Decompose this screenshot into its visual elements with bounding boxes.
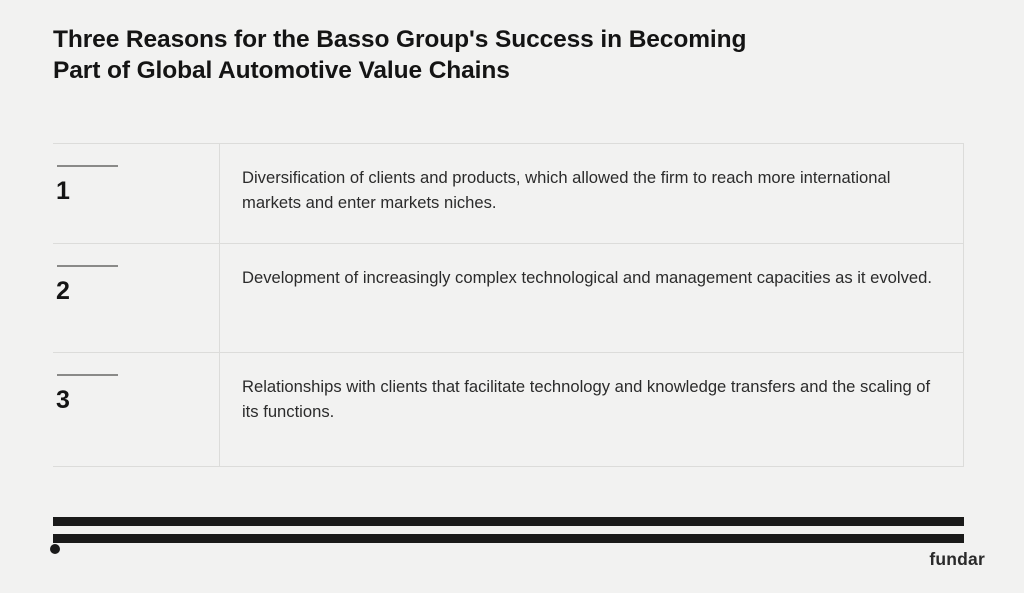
page-title: Three Reasons for the Basso Group's Succ… [53,24,933,86]
table-row: 1 Diversification of clients and product… [53,144,964,244]
footer [0,511,1024,593]
page-title-line-1: Three Reasons for the Basso Group's Succ… [53,24,933,55]
fundar-logo: fundar [929,549,985,570]
reason-number: 2 [56,276,70,306]
reason-number: 3 [56,385,70,415]
number-rule-divider [57,374,118,376]
reason-text: Diversification of clients and products,… [242,165,932,215]
reason-number-cell: 3 [53,353,220,466]
footer-dot-icon [50,544,60,554]
page-title-line-2: Part of Global Automotive Value Chains [53,55,933,86]
infographic-page: Three Reasons for the Basso Group's Succ… [0,0,1024,593]
footer-bar-bottom [53,534,964,543]
reasons-table: 1 Diversification of clients and product… [53,143,964,467]
reason-number-cell: 2 [53,244,220,352]
footer-bar-top [53,517,964,526]
number-rule-divider [57,265,118,267]
reason-text-cell: Diversification of clients and products,… [220,144,963,243]
reason-text-cell: Development of increasingly complex tech… [220,244,963,352]
reason-number: 1 [56,176,70,206]
reason-text: Relationships with clients that facilita… [242,374,932,424]
reason-text: Development of increasingly complex tech… [242,265,932,290]
table-row: 3 Relationships with clients that facili… [53,353,964,467]
table-row: 2 Development of increasingly complex te… [53,244,964,353]
number-rule-divider [57,165,118,167]
reason-number-cell: 1 [53,144,220,243]
reason-text-cell: Relationships with clients that facilita… [220,353,963,466]
